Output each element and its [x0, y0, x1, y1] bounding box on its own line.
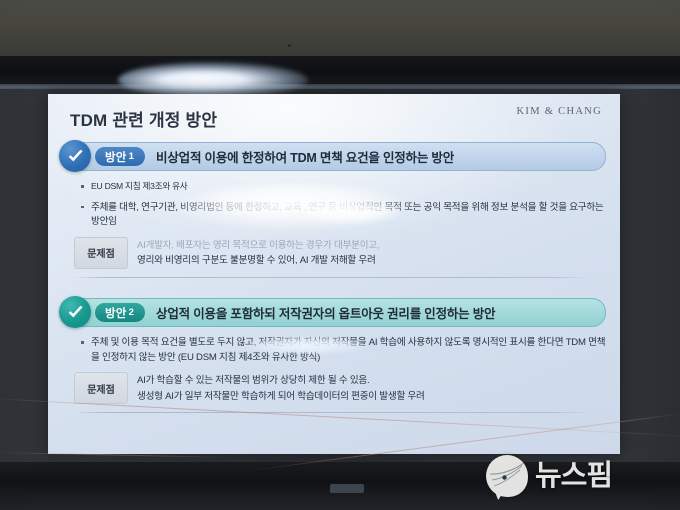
- check-circle-icon: [59, 296, 91, 328]
- option-2-pill-label: 방안: [105, 305, 127, 321]
- option-1-issue-line-1: AI개발자, 배포자는 영리 목적으로 이용하는 경우가 대부분이고,: [137, 238, 606, 254]
- display-bezel-lip: [0, 84, 680, 89]
- display-top-bezel: [0, 56, 680, 86]
- bezel-glare: [118, 62, 308, 98]
- option-2-issue-line-2: 생성형 AI가 일부 저작물만 학습하게 되어 학습데이터의 편중이 발생할 우…: [137, 389, 606, 405]
- check-circle-icon: [59, 140, 91, 172]
- bullet-item: 주체 및 이용 목적 요건을 별도로 두지 않고, 저작권자가 자신의 저작물을…: [80, 336, 606, 365]
- option-2-divider: [74, 412, 590, 413]
- ceiling-speck: [288, 44, 291, 47]
- option-1-issue-box: 문제점 AI개발자, 배포자는 영리 목적으로 이용하는 경우가 대부분이고, …: [74, 237, 606, 269]
- option-1-bullet-1: 주체를 대학, 연구기관, 비영리법인 등에 한정하고, 교육 , 연구 등 비…: [91, 202, 604, 228]
- option-1-heading: 비상업적 이용에 한정하여 TDM 면책 요건을 인정하는 방안: [156, 147, 454, 166]
- bullet-item: 주체를 대학, 연구기관, 비영리법인 등에 한정하고, 교육 , 연구 등 비…: [80, 201, 606, 230]
- option-2-pill: 방안 2: [95, 303, 145, 322]
- option-1-section: 방안 1 비상업적 이용에 한정하여 TDM 면책 요건을 인정하는 방안 EU…: [62, 142, 606, 278]
- option-2-issue-label: 문제점: [74, 372, 128, 404]
- option-1-pill-number: 1: [129, 151, 134, 162]
- option-1-issue-label: 문제점: [74, 237, 128, 269]
- option-2-heading: 상업적 이용을 포함하되 저작권자의 옵트아웃 권리를 인정하는 방안: [156, 303, 495, 322]
- ceiling: [0, 0, 680, 58]
- option-1-banner[interactable]: 방안 1 비상업적 이용에 한정하여 TDM 면책 요건을 인정하는 방안: [62, 142, 606, 171]
- option-1-pill: 방안 1: [95, 147, 145, 166]
- option-2-issue-box: 문제점 AI가 학습할 수 있는 저작물의 범위가 상당히 제한 될 수 있음.…: [74, 372, 606, 404]
- option-2-issue-text: AI가 학습할 수 있는 저작물의 범위가 상당히 제한 될 수 있음. 생성형…: [137, 372, 606, 404]
- option-2-bullets: 주체 및 이용 목적 요건을 별도로 두지 않고, 저작권자가 자신의 저작물을…: [80, 336, 606, 365]
- option-1-issue-line-2: 영리와 비영리의 구분도 불분명할 수 있어, AI 개발 저해할 우려: [137, 253, 606, 269]
- bullet-item: EU DSM 지침 제3조와 유사: [80, 180, 606, 195]
- option-2-pill-number: 2: [129, 307, 134, 318]
- option-2-section: 방안 2 상업적 이용을 포함하되 저작권자의 옵트아웃 권리를 인정하는 방안…: [62, 298, 606, 413]
- option-1-bullet-0: EU DSM 지침 제3조와 유사: [91, 181, 187, 191]
- option-1-pill-label: 방안: [105, 149, 127, 165]
- kim-and-chang-logo: KIM & CHANG: [517, 106, 602, 117]
- option-1-bullets: EU DSM 지침 제3조와 유사 주체를 대학, 연구기관, 비영리법인 등에…: [80, 180, 606, 230]
- room-photo: KIM & CHANG TDM 관련 개정 방안 방안 1 비상업적 이용에 한…: [0, 0, 680, 510]
- option-2-issue-line-1: AI가 학습할 수 있는 저작물의 범위가 상당히 제한 될 수 있음.: [137, 373, 606, 389]
- option-1-issue-text: AI개발자, 배포자는 영리 목적으로 이용하는 경우가 대부분이고, 영리와 …: [137, 237, 606, 269]
- option-2-banner[interactable]: 방안 2 상업적 이용을 포함하되 저작권자의 옵트아웃 권리를 인정하는 방안: [62, 298, 606, 327]
- display-brand-badge: [330, 484, 364, 493]
- option-2-bullet-0: 주체 및 이용 목적 요건을 별도로 두지 않고, 저작권자가 자신의 저작물을…: [91, 337, 605, 363]
- slide-title: TDM 관련 개정 방안: [70, 106, 217, 131]
- presentation-slide: KIM & CHANG TDM 관련 개정 방안 방안 1 비상업적 이용에 한…: [48, 94, 620, 454]
- option-1-divider: [74, 277, 590, 278]
